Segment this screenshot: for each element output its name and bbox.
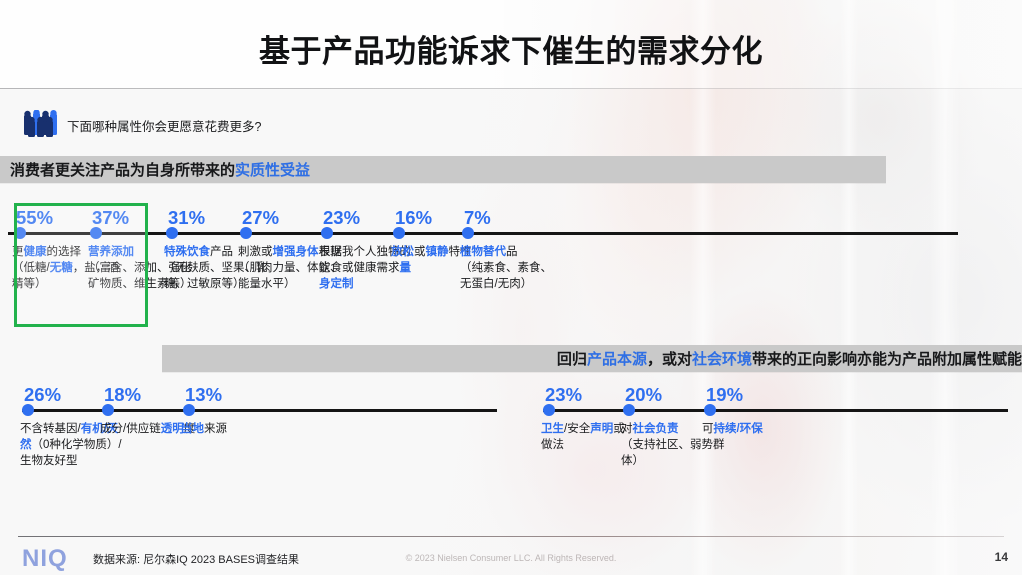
plain-text: （0种化学物质）/ xyxy=(32,439,122,451)
banner-benefit: 消费者更关注产品为自身所带来的实质性受益 xyxy=(0,156,886,183)
accent-text: 特殊饮食 xyxy=(164,246,210,258)
label-line: 无蛋白/无肉） xyxy=(460,276,592,292)
timeline-dot[interactable] xyxy=(321,227,333,239)
timeline-dot[interactable] xyxy=(22,404,34,416)
page-number: 14 xyxy=(995,550,1008,564)
plain-text: 体） xyxy=(621,455,644,467)
timeline-dot[interactable] xyxy=(543,404,555,416)
accent-text: 身定制 xyxy=(319,278,354,290)
label-line: 生物友好型 xyxy=(20,453,152,469)
plain-text: /安全 xyxy=(564,423,590,435)
label-line: （纯素食、素食、 xyxy=(460,260,592,276)
copyright-note: © 2023 Nielsen Consumer LLC. All Rights … xyxy=(0,553,1022,563)
highlight-box-top-answer xyxy=(14,203,148,327)
plain-text: 无蛋白/无肉） xyxy=(460,278,532,290)
plain-text: 糖、过敏原等） xyxy=(164,278,245,290)
label-line: 然（0种化学物质）/ xyxy=(20,437,152,453)
label-line: 当地来源 xyxy=(181,421,313,437)
label-line: 可持续/环保 xyxy=(702,421,834,437)
banner-benefit-text: 消费者更关注产品为自身所带来的实质性受益 xyxy=(10,159,310,180)
plain-text: 饮食或健康需求 xyxy=(319,262,400,274)
timeline-dot[interactable] xyxy=(166,227,178,239)
timeline-dot[interactable] xyxy=(462,227,474,239)
timeline-line-row2-left xyxy=(22,409,497,412)
accent-text: 镇静 xyxy=(426,246,449,258)
plain-text: 能量水平） xyxy=(238,278,296,290)
timeline-dot[interactable] xyxy=(623,404,635,416)
label-line: 身定制 xyxy=(319,276,451,292)
accent-text: 卫生 xyxy=(541,423,564,435)
label-line: 饮食或健康需求量 xyxy=(319,260,451,276)
banner-source: 回归产品本源，或对社会环境带来的正向影响亦能为产品附加属性赋能 xyxy=(162,345,1022,372)
timeline-dot[interactable] xyxy=(102,404,114,416)
accent-text: 产品本源 xyxy=(587,351,647,368)
plain-text: 成分/供应链 xyxy=(100,423,161,435)
answer-row2-label: 可持续/环保 xyxy=(702,421,834,437)
timeline-dot[interactable] xyxy=(183,404,195,416)
accent-text: 增强身体 xyxy=(273,246,319,258)
accent-text: 实质性受益 xyxy=(235,162,310,179)
plain-text: （纯素食、素食、 xyxy=(460,262,552,274)
banner-source-text: 回归产品本源，或对社会环境带来的正向影响亦能为产品附加属性赋能 xyxy=(557,348,1022,369)
slide-canvas: 基于产品功能诉求下催生的需求分化 下面哪种属性你会更愿意花费更多? xyxy=(0,0,1022,575)
timeline-line-row2-right xyxy=(543,409,1008,412)
accent-text: 社会负责 xyxy=(633,423,679,435)
accent-text: 声明 xyxy=(590,423,613,435)
plain-text: 刺激或 xyxy=(238,246,273,258)
people-group-icon xyxy=(22,110,60,140)
plain-text: 不含转基因/ xyxy=(20,423,81,435)
accent-text: 量 xyxy=(400,262,412,274)
plain-text: 带来的正向影响亦能为产品附加属性赋能 xyxy=(752,351,1022,368)
label-line: 植物替代品 xyxy=(460,244,592,260)
question-text: 下面哪种属性你会更愿意花费更多? xyxy=(67,116,261,135)
plain-text: 回归 xyxy=(557,351,587,368)
footer-divider xyxy=(18,536,1004,537)
plain-text: 消费者更关注产品为自身所带来的 xyxy=(10,162,235,179)
plain-text: 或 xyxy=(414,246,426,258)
timeline-dot[interactable] xyxy=(704,404,716,416)
accent-text: 植物替代 xyxy=(460,246,506,258)
plain-text: ，或对 xyxy=(647,351,692,368)
answer-row1-label: 植物替代品（纯素食、素食、无蛋白/无肉） xyxy=(460,244,592,292)
plain-text: 生物友好型 xyxy=(20,455,78,467)
accent-text: 当地 xyxy=(181,423,204,435)
plain-text: 对 xyxy=(621,423,633,435)
plain-text: 可 xyxy=(702,423,714,435)
accent-text: 然 xyxy=(20,439,32,451)
plain-text: 产品 xyxy=(210,246,233,258)
label-line: 体） xyxy=(621,453,753,469)
timeline-dot[interactable] xyxy=(393,227,405,239)
question-row: 下面哪种属性你会更愿意花费更多? xyxy=(22,110,261,140)
timeline-line-row1 xyxy=(8,232,958,235)
plain-text: 做法 xyxy=(541,439,564,451)
plain-text: 品 xyxy=(506,246,518,258)
accent-text: 放松 xyxy=(391,246,414,258)
plain-text: （支持社区、弱势群 xyxy=(621,439,725,451)
accent-text: 社会环境 xyxy=(692,351,752,368)
accent-text: 持续/环保 xyxy=(714,423,763,435)
title-divider xyxy=(0,88,1022,89)
plain-text: 来源 xyxy=(204,423,227,435)
page-title: 基于产品功能诉求下催生的需求分化 xyxy=(0,26,1022,71)
answer-row2-label: 当地来源 xyxy=(181,421,313,437)
timeline-dot[interactable] xyxy=(240,227,252,239)
label-line: （支持社区、弱势群 xyxy=(621,437,753,453)
